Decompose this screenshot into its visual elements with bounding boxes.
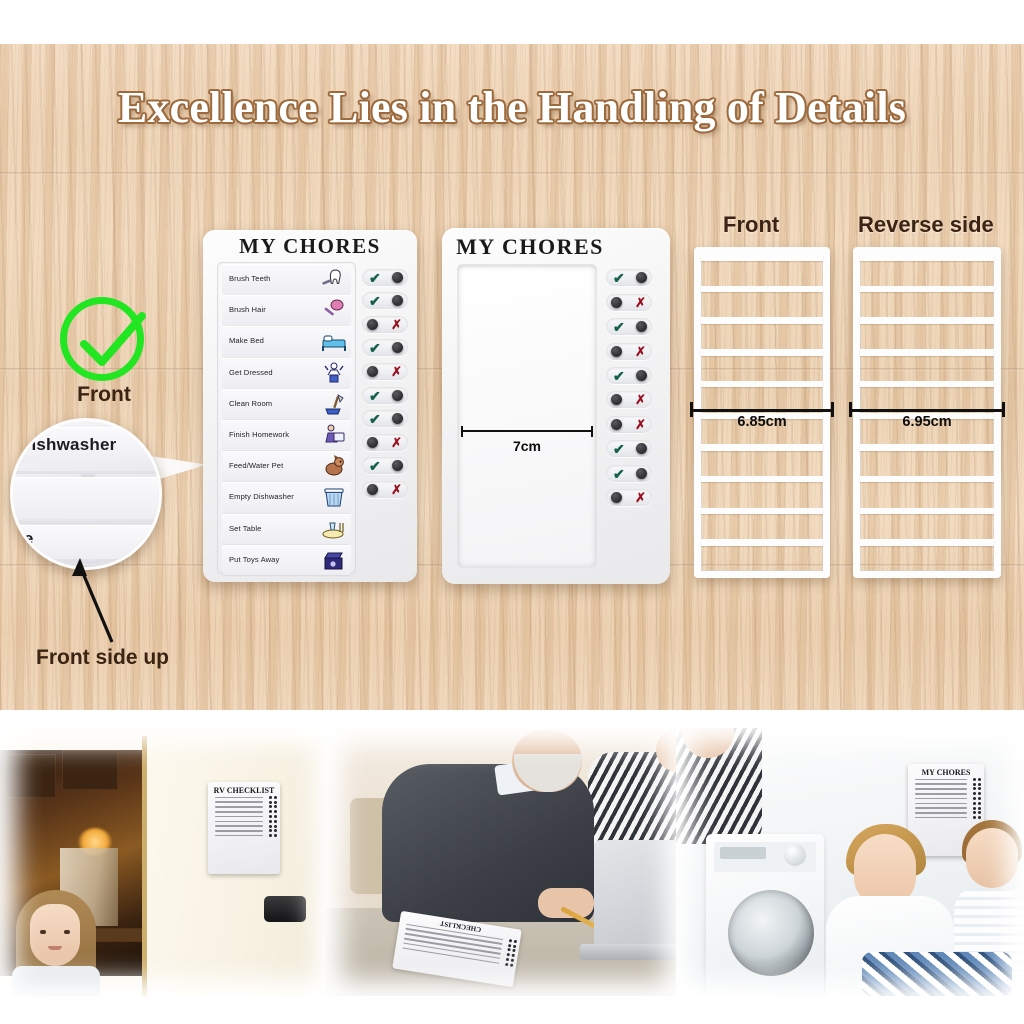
chore-label: Make Bed [222, 337, 321, 345]
blank-slider-column[interactable]: ✔✗✔✗✔✗✗✔✔✗ [605, 262, 655, 574]
chore-label: Brush Teeth [222, 275, 321, 283]
place-setting-icon [321, 517, 347, 541]
slider-knob[interactable] [367, 437, 378, 448]
insert-slot [860, 324, 994, 349]
insert-slot [860, 292, 994, 317]
cross-icon: ✗ [391, 318, 402, 331]
chore-label: Put Toys Away [222, 556, 321, 564]
cross-icon: ✗ [635, 418, 646, 431]
chore-label: Feed/Water Pet [222, 462, 321, 470]
blank-insert-well [457, 264, 597, 568]
chore-label: Empty Dishwasher [222, 493, 321, 501]
slider-knob[interactable] [392, 295, 403, 306]
chore-slider-0[interactable]: ✔ [362, 269, 408, 286]
blank-width-dimension: 7cm [460, 426, 594, 454]
bed-icon [321, 329, 347, 353]
chore-board-blank[interactable]: MY CHORES 7cm ✔✗✔✗✔✗✗✔✔✗ [442, 228, 670, 584]
cross-icon: ✗ [391, 365, 402, 378]
insert-reverse-frame [853, 247, 1001, 578]
slider-knob[interactable] [367, 484, 378, 495]
chore-row: Feed/Water Pet [222, 451, 351, 481]
insert-slot [860, 451, 994, 476]
slider-knob[interactable] [392, 390, 403, 401]
slider-knob[interactable] [636, 370, 647, 381]
front-side-up-arrow [60, 556, 130, 648]
magnifier-row-label-1: Dishwasher [19, 435, 116, 455]
insert-slot [701, 451, 823, 476]
insert-slot [860, 356, 994, 381]
blank-width-label: 7cm [460, 438, 594, 454]
chore-board-filled[interactable]: MY CHORES Brush TeethBrush HairMake BedG… [203, 230, 417, 582]
check-icon: ✔ [613, 369, 625, 383]
slider-knob[interactable] [636, 321, 647, 332]
cross-icon: ✗ [635, 393, 646, 406]
chore-row: Brush Teeth [222, 264, 351, 294]
slider-knob[interactable] [636, 468, 647, 479]
dustpan-broom-icon [321, 392, 347, 416]
slider-knob[interactable] [367, 366, 378, 377]
blank-slider-1[interactable]: ✗ [606, 294, 652, 311]
blank-slider-3[interactable]: ✗ [606, 343, 652, 360]
slider-knob[interactable] [611, 492, 622, 503]
chore-slider-5[interactable]: ✔ [362, 387, 408, 404]
slider-knob[interactable] [636, 443, 647, 454]
lifestyle-photo-strip: RV CHECKLIST [0, 728, 1024, 996]
chore-label: Brush Hair [222, 306, 321, 314]
wood-plank-seam [0, 172, 1024, 175]
cross-icon: ✗ [635, 491, 646, 504]
dustpan-broom-icon [321, 392, 347, 416]
page-title: Excellence Lies in the Handling of Detai… [0, 82, 1024, 133]
magnifier-row-label-2: le [19, 529, 34, 549]
insert-slot [701, 261, 823, 286]
slider-knob[interactable] [611, 297, 622, 308]
blank-slider-7[interactable]: ✔ [606, 440, 652, 457]
check-icon: ✔ [369, 459, 381, 473]
check-icon [62, 296, 158, 392]
insert-slot [860, 514, 994, 539]
chore-row: Clean Room [222, 389, 351, 419]
slider-knob[interactable] [392, 413, 403, 424]
cross-icon: ✗ [391, 436, 402, 449]
insert-slot [860, 482, 994, 507]
blank-slider-8[interactable]: ✔ [606, 465, 652, 482]
chore-row: Finish Homework [222, 420, 351, 450]
front-side-up-caption: Front side up [36, 646, 169, 670]
toy-box-icon [321, 548, 347, 572]
slider-knob[interactable] [611, 394, 622, 405]
senior-couple-photo: CHECKLIST [326, 728, 682, 996]
check-icon: ✔ [369, 341, 381, 355]
check-icon: ✔ [369, 412, 381, 426]
child-homework-icon [321, 423, 347, 447]
front-approved-badge [60, 297, 144, 381]
chore-label: Finish Homework [222, 431, 321, 439]
check-icon: ✔ [613, 271, 625, 285]
insert-front-frame [694, 247, 830, 578]
slider-knob[interactable] [611, 419, 622, 430]
chore-board-title: MY CHORES [203, 234, 417, 259]
slider-knob[interactable] [392, 460, 403, 471]
check-icon: ✔ [613, 320, 625, 334]
chore-row: Put Toys Away [222, 545, 351, 575]
blank-slider-5[interactable]: ✗ [606, 391, 652, 408]
dog-pet-icon [321, 454, 347, 478]
dressing-child-icon [321, 361, 347, 385]
blank-slider-9[interactable]: ✗ [606, 489, 652, 506]
chore-slider-3[interactable]: ✔ [362, 339, 408, 356]
chore-rows-frame: Brush TeethBrush HairMake BedGet Dressed… [217, 262, 356, 574]
dishwasher-icon [321, 485, 347, 509]
insert-slot [701, 324, 823, 349]
check-icon: ✔ [369, 389, 381, 403]
blank-board-title: MY CHORES [416, 234, 644, 260]
product-infographic: Excellence Lies in the Handling of Detai… [0, 0, 1024, 1024]
laundry-room-photo: MY CHORES [676, 728, 1024, 996]
chore-label: Clean Room [222, 400, 321, 408]
cross-icon: ✗ [391, 483, 402, 496]
insert-front-caption: Front [723, 212, 779, 238]
slider-knob[interactable] [611, 346, 622, 357]
chore-row: Set Table [222, 514, 351, 544]
chore-slider-1[interactable]: ✔ [362, 292, 408, 309]
dishwasher-icon [321, 485, 347, 509]
insert-reverse-dimension-label: 6.95cm [849, 414, 1005, 430]
check-icon: ✔ [613, 467, 625, 481]
tooth-brushing-icon [321, 267, 347, 291]
chore-row: Make Bed [222, 326, 351, 356]
rv-checklist-photo: RV CHECKLIST [0, 728, 330, 996]
slider-knob[interactable] [392, 342, 403, 353]
insert-slot [701, 514, 823, 539]
chore-row: Get Dressed [222, 358, 351, 388]
insert-slot [860, 546, 994, 571]
chore-row: Empty Dishwasher [222, 482, 351, 512]
insert-slot [701, 482, 823, 507]
tooth-brushing-icon [321, 267, 347, 291]
blank-slider-2[interactable]: ✔ [606, 318, 652, 335]
chore-slider-6[interactable]: ✔ [362, 410, 408, 427]
chore-slider-column[interactable]: ✔✔✗✔✗✔✔✗✔✗ [361, 262, 411, 574]
insert-front-dimension-label: 6.85cm [690, 414, 834, 430]
insert-slot [701, 292, 823, 317]
child-homework-icon [321, 423, 347, 447]
dog-pet-icon [321, 454, 347, 478]
chore-row: Brush Hair [222, 295, 351, 325]
chore-slider-9[interactable]: ✗ [362, 481, 408, 498]
insert-slot [860, 261, 994, 286]
chore-slider-4[interactable]: ✗ [362, 363, 408, 380]
insert-reverse-caption: Reverse side [858, 212, 994, 238]
blank-slider-4[interactable]: ✔ [606, 367, 652, 384]
insert-slot [701, 356, 823, 381]
chore-slider-8[interactable]: ✔ [362, 457, 408, 474]
front-badge-label: Front [58, 383, 150, 407]
cross-icon: ✗ [635, 296, 646, 309]
toy-box-icon [321, 548, 347, 572]
chore-slider-7[interactable]: ✗ [362, 434, 408, 451]
magnifier-callout: Dishwasher le [10, 418, 162, 570]
insert-slot [701, 546, 823, 571]
blank-slider-6[interactable]: ✗ [606, 416, 652, 433]
cross-icon: ✗ [635, 345, 646, 358]
slider-knob[interactable] [367, 319, 378, 330]
bed-icon [321, 329, 347, 353]
dressing-child-icon [321, 361, 347, 385]
chore-label: Get Dressed [222, 369, 321, 377]
hairbrush-icon [321, 298, 347, 322]
slider-knob[interactable] [392, 272, 403, 283]
blank-slider-0[interactable]: ✔ [606, 269, 652, 286]
hairbrush-icon [321, 298, 347, 322]
chore-slider-2[interactable]: ✗ [362, 316, 408, 333]
slider-knob[interactable] [636, 272, 647, 283]
place-setting-icon [321, 517, 347, 541]
check-icon: ✔ [613, 442, 625, 456]
chore-label: Set Table [222, 525, 321, 533]
check-icon: ✔ [369, 294, 381, 308]
check-icon: ✔ [369, 271, 381, 285]
